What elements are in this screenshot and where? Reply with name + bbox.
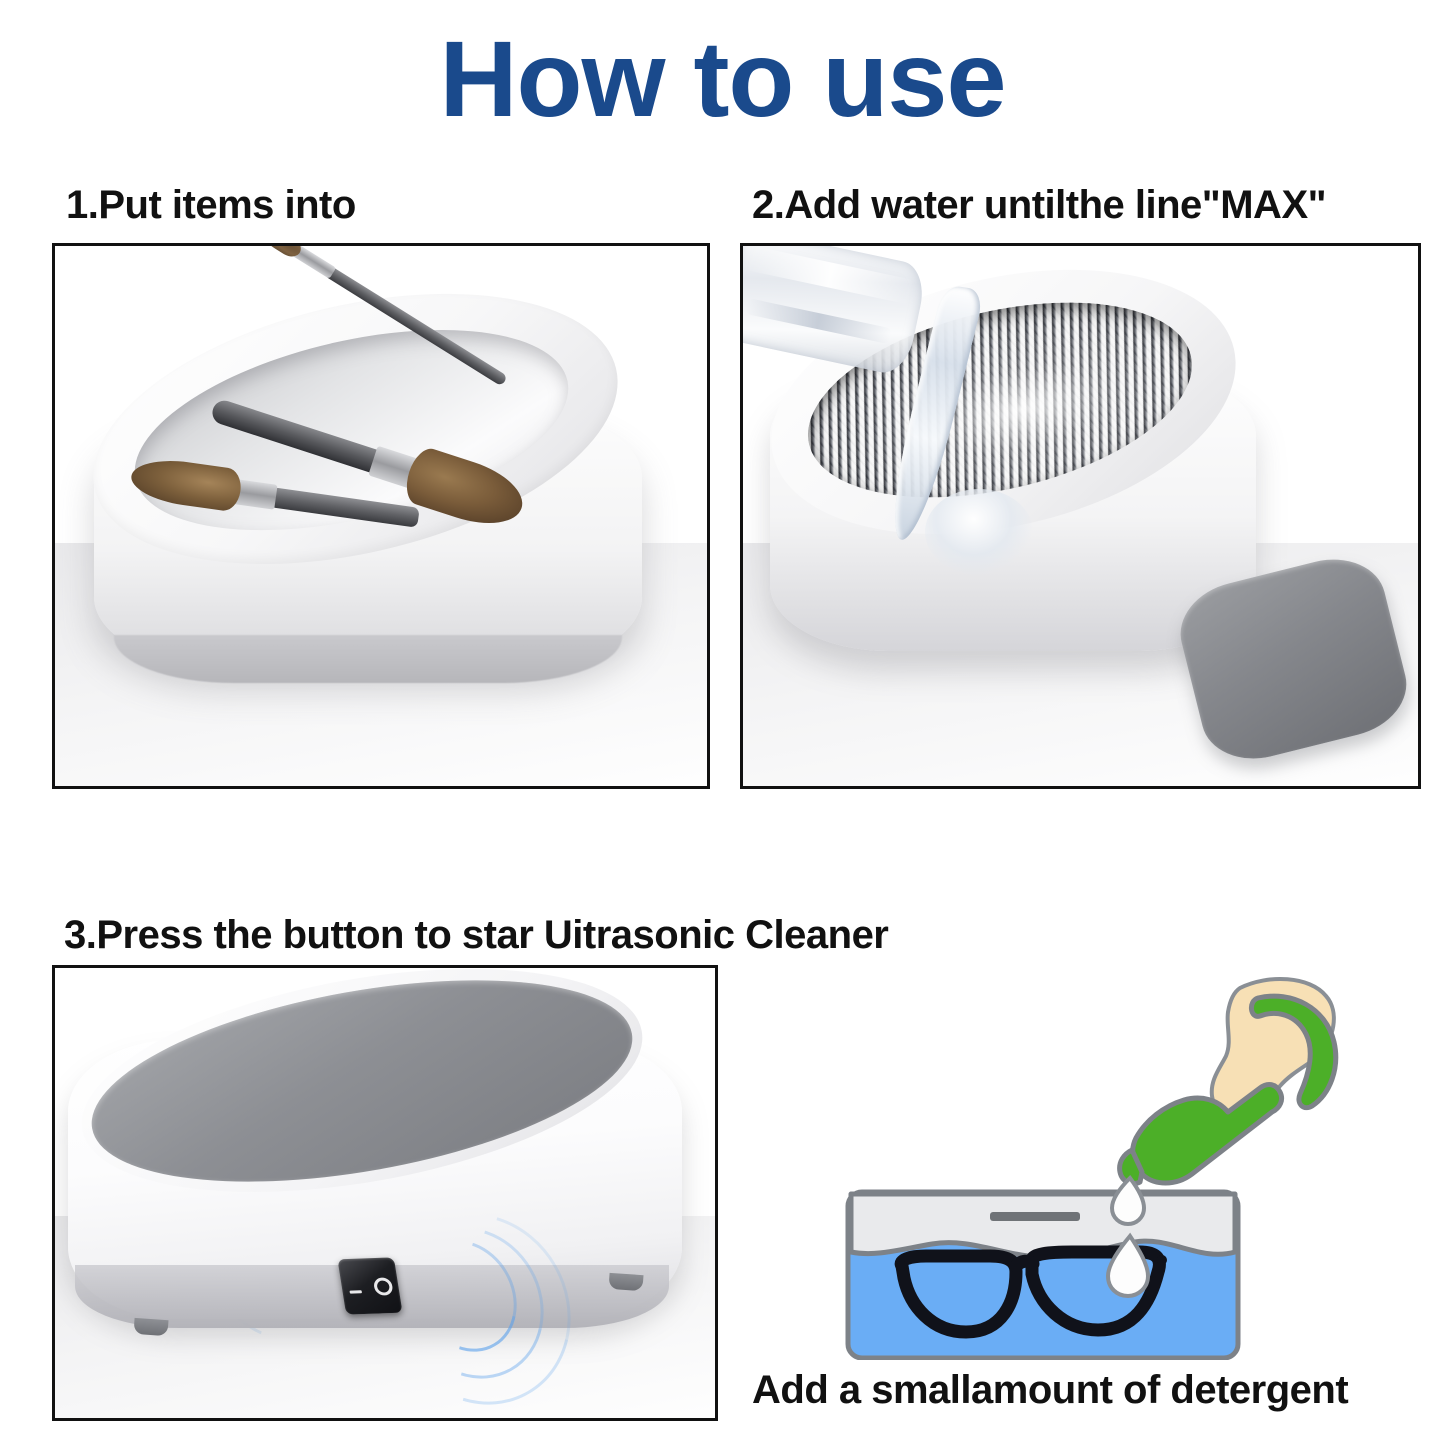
step-1-image-panel xyxy=(52,243,710,789)
page-title: How to use xyxy=(0,22,1445,135)
step-2-image-panel xyxy=(740,243,1421,789)
brushes-in-tub-scene xyxy=(55,246,707,786)
rocker-power-switch[interactable] xyxy=(338,1258,403,1315)
step-3-label: 3.Press the button to star Uitrasonic Cl… xyxy=(64,913,888,958)
tub-foot-band xyxy=(114,635,623,684)
detergent-caption: Add a smallamount of detergent xyxy=(752,1368,1348,1413)
power-on-circle-icon xyxy=(372,1278,393,1296)
step-1-label: 1.Put items into xyxy=(66,183,356,228)
glasses-hinge-right xyxy=(1157,1255,1167,1265)
pouring-water-scene xyxy=(743,246,1418,786)
step-3-image-panel xyxy=(52,965,718,1421)
cleaner-leg xyxy=(609,1273,644,1291)
detergent-illustration-svg xyxy=(840,960,1410,1360)
max-line-marker xyxy=(990,1212,1080,1221)
cleaner-leg xyxy=(134,1318,169,1336)
drinking-glass xyxy=(740,243,928,378)
brush-handle xyxy=(269,487,420,528)
detergent-bottle xyxy=(1133,1085,1282,1183)
step-2-label: 2.Add water untilthe line"MAX" xyxy=(752,183,1326,228)
glasses-bridge xyxy=(1016,1261,1033,1266)
cleaner-running-scene xyxy=(55,968,715,1418)
water-splash xyxy=(925,489,1033,575)
power-off-dash-icon xyxy=(349,1290,362,1293)
detergent-illustration xyxy=(840,960,1410,1360)
glasses-hinge-left xyxy=(897,1261,907,1271)
